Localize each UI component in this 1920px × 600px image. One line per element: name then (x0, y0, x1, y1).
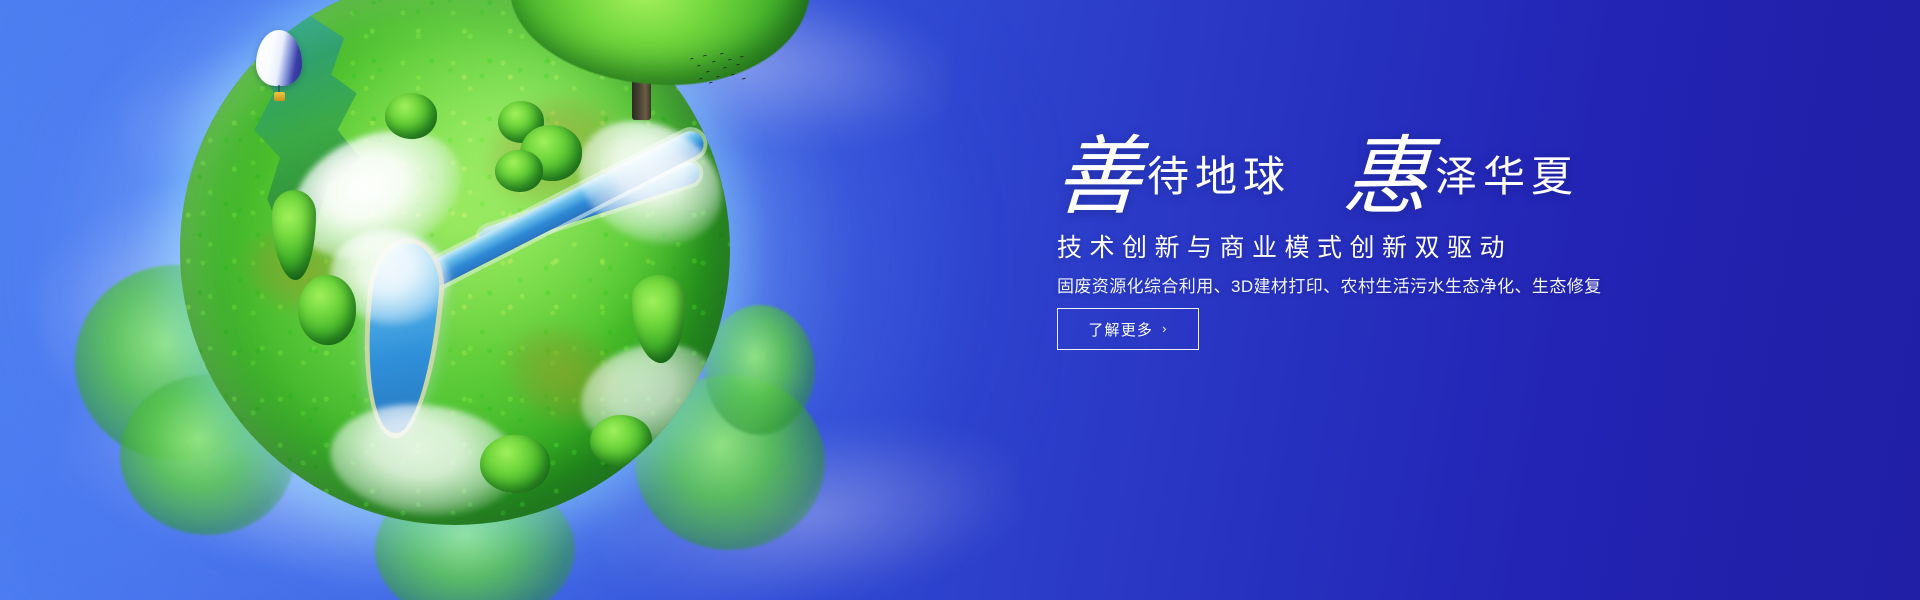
earth-globe-illustration (180, 0, 730, 525)
chevron-right-icon: › (1162, 321, 1168, 336)
page-subtitle: 技术创新与商业模式创新双驱动 (1057, 228, 1512, 264)
learn-more-label: 了解更多 (1088, 319, 1153, 340)
tree-icon (495, 150, 543, 192)
hero-content: 善 待地球 惠 泽华夏 技术创新与商业模式创新双驱动 固废资源化综合利用、3D建… (1055, 0, 1875, 600)
tree-icon (480, 435, 550, 493)
headline-text-zehuaxia: 泽华夏 (1429, 157, 1579, 211)
headline-text-daidiqiu: 待地球 (1141, 157, 1291, 211)
learn-more-button[interactable]: 了解更多 › (1057, 308, 1199, 350)
bird-flock-icon (690, 52, 746, 84)
headline-char-hui: 惠 (1341, 138, 1431, 217)
tree-icon (385, 93, 437, 139)
hero-banner: 善 待地球 惠 泽华夏 技术创新与商业模式创新双驱动 固废资源化综合利用、3D建… (0, 0, 1920, 600)
headline-char-shan: 善 (1053, 138, 1143, 217)
page-title: 善 待地球 惠 泽华夏 (1055, 132, 1579, 211)
balloon-basket (274, 92, 285, 101)
balloon-envelope (256, 30, 302, 86)
tree-icon (298, 275, 356, 345)
hot-air-balloon-icon (256, 30, 302, 104)
page-description: 固废资源化综合利用、3D建材打印、农村生活污水生态净化、生态修复 (1057, 272, 1602, 297)
tree-icon (590, 415, 652, 467)
